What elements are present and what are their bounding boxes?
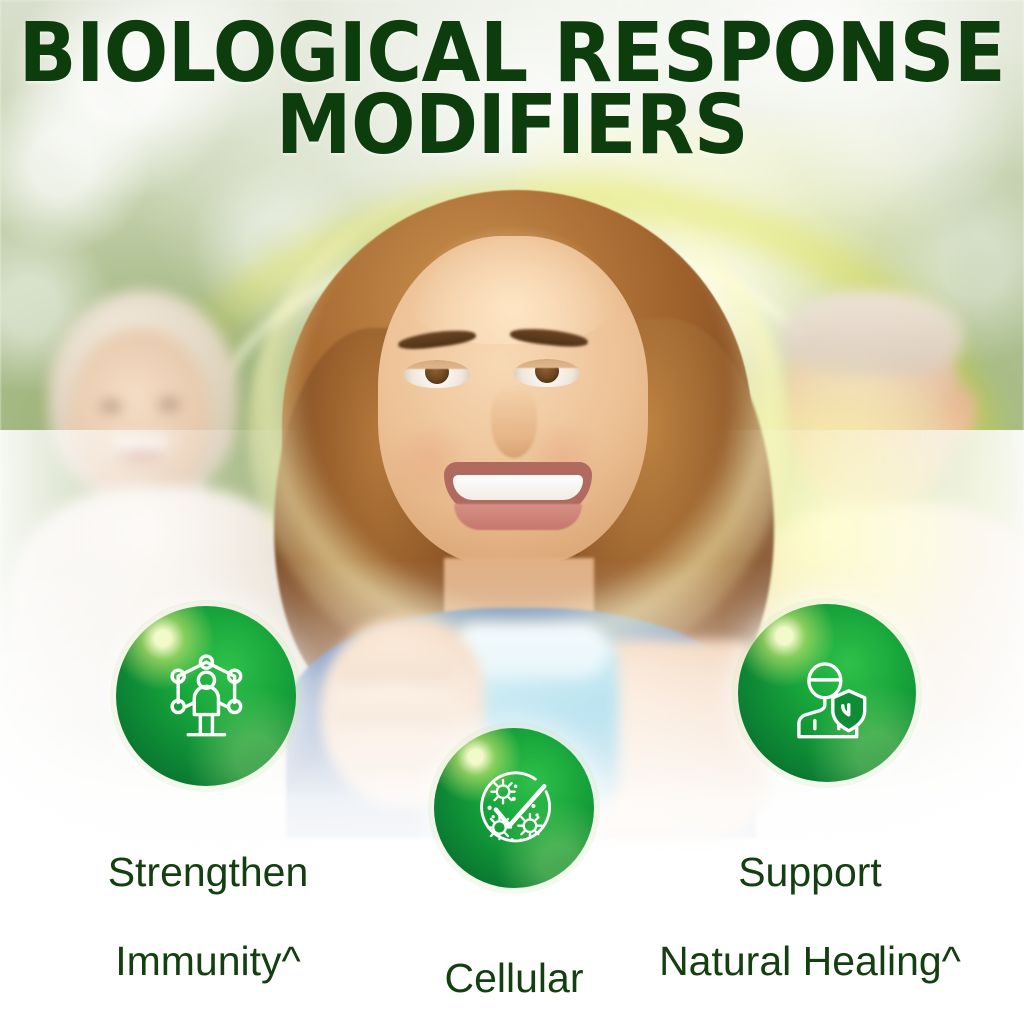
feature-label-support-natural-healing: Support Natural Healing^: [600, 806, 1020, 1024]
person-network-icon: [156, 646, 257, 747]
feature-label-line-2: Natural Healing^: [600, 939, 1020, 983]
feature-label-line-2: Immunity^: [18, 939, 398, 983]
germ-shield-check-icon: [469, 763, 559, 853]
highlight-overlay-top: [380, 0, 1024, 260]
promo-banner: BIOLOGICAL RESPONSE MODIFIERS: [0, 0, 1024, 1024]
person-shield-icon: [777, 643, 877, 743]
feature-badge-support-natural-healing[interactable]: [738, 604, 916, 782]
feature-label-line-1: Support: [600, 850, 1020, 894]
feature-label-strengthen-immunity: Strengthen Immunity^: [18, 806, 398, 1024]
feature-label-line-1: Strengthen: [18, 850, 398, 894]
feature-badge-cellular-defence[interactable]: [434, 728, 594, 888]
feature-badge-strengthen-immunity[interactable]: [116, 606, 296, 786]
